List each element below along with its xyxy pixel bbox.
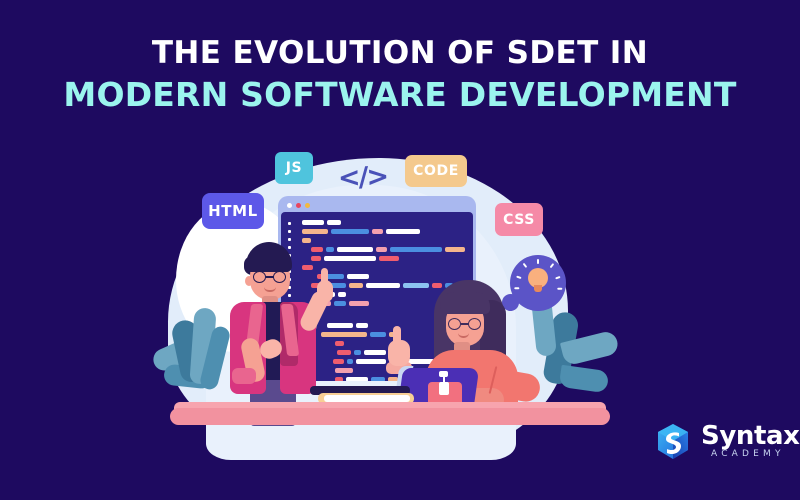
male-cuff-left [232,368,256,384]
editor-title-bar [281,199,473,212]
window-dot-white [287,203,292,208]
male-glasses-icon [252,271,290,283]
page-title-line-1: The Evolution of SDET in [0,38,800,69]
female-pointing-hand [388,326,410,366]
tag-code: CODE [405,155,467,187]
brand-tagline: ACADEMY [711,449,785,459]
brand-logo[interactable]: Syntax ACADEMY [653,418,785,468]
code-brackets-icon: </> [337,161,387,194]
page-title: The Evolution of SDET in Modern Software… [0,38,800,111]
tea-bag-label [439,382,449,395]
book-top-pages [324,395,410,402]
male-index-finger [321,268,328,286]
syntax-hexagon-s-logo-icon [653,422,693,462]
tag-js: JS [275,152,313,184]
hero-illustration: HTML JS CODE CSS </> [110,130,670,450]
window-dot-red [296,203,301,208]
female-glasses-icon [448,318,484,330]
page-title-line-2: Modern Software Development [0,78,800,111]
female-hair-bang [440,292,490,314]
tag-css: CSS [495,203,543,236]
banner-canvas: The Evolution of SDET in Modern Software… [0,0,800,500]
brand-name: Syntax [701,421,800,451]
desk-surface [170,408,610,425]
tag-html: HTML [202,193,264,229]
male-hair [246,242,292,272]
window-dot-yellow [305,203,310,208]
